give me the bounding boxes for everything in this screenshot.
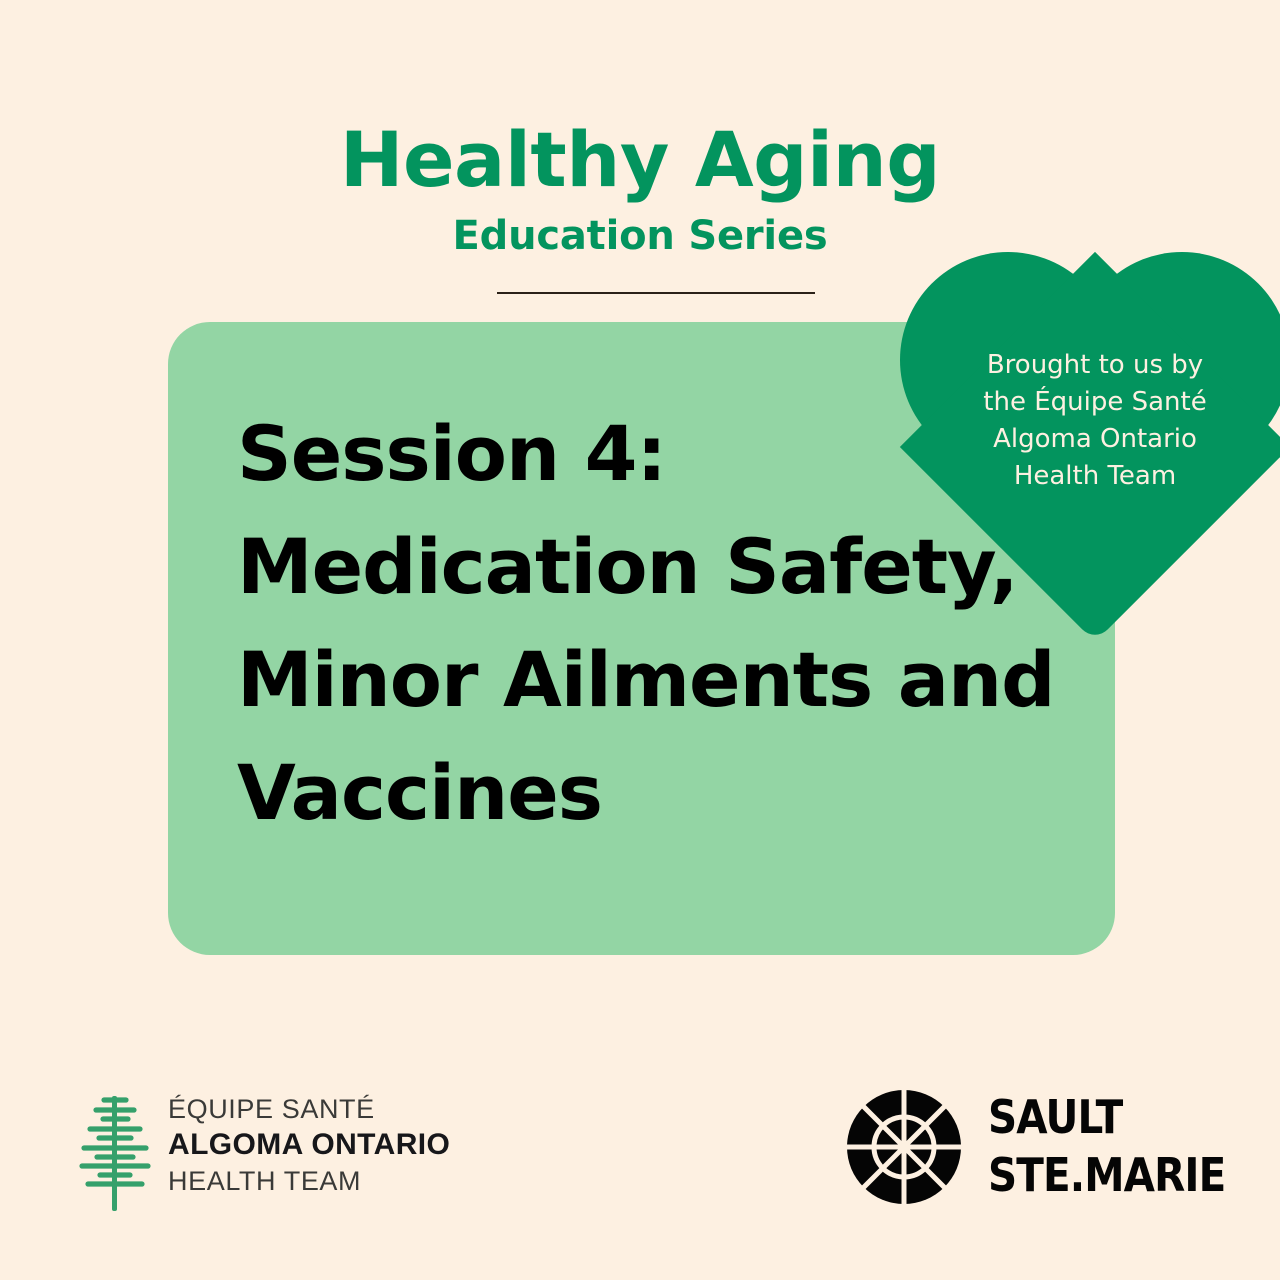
- ssm-line-1: SAULT: [988, 1088, 1182, 1146]
- header: Healthy Aging Education Series: [0, 0, 1280, 260]
- heart-credit-text: Brought to us by the Équipe Santé Algoma…: [940, 347, 1250, 495]
- logo-sault-ste-marie: SAULT STE.MARIE: [845, 1088, 1205, 1213]
- heart-badge: Brought to us by the Équipe Santé Algoma…: [900, 252, 1280, 600]
- page-title: Healthy Aging: [0, 0, 1280, 202]
- esao-line-1: ÉQUIPE SANTÉ: [168, 1092, 488, 1126]
- ssm-wordmark: SAULT STE.MARIE: [988, 1088, 1208, 1204]
- esao-wordmark: ÉQUIPE SANTÉ ALGOMA ONTARIO HEALTH TEAM: [168, 1092, 488, 1198]
- pine-tree-icon: [78, 1086, 152, 1216]
- logo-equipe-sante-algoma-ontario: ÉQUIPE SANTÉ ALGOMA ONTARIO HEALTH TEAM: [78, 1086, 478, 1216]
- esao-line-3: HEALTH TEAM: [168, 1164, 488, 1198]
- poster-canvas: Healthy Aging Education Series Session 4…: [0, 0, 1280, 1280]
- ssm-line-2: STE.MARIE: [988, 1146, 1182, 1204]
- esao-line-2: ALGOMA ONTARIO: [168, 1126, 488, 1164]
- segmented-circle-icon: [845, 1088, 963, 1206]
- header-divider: [497, 292, 815, 294]
